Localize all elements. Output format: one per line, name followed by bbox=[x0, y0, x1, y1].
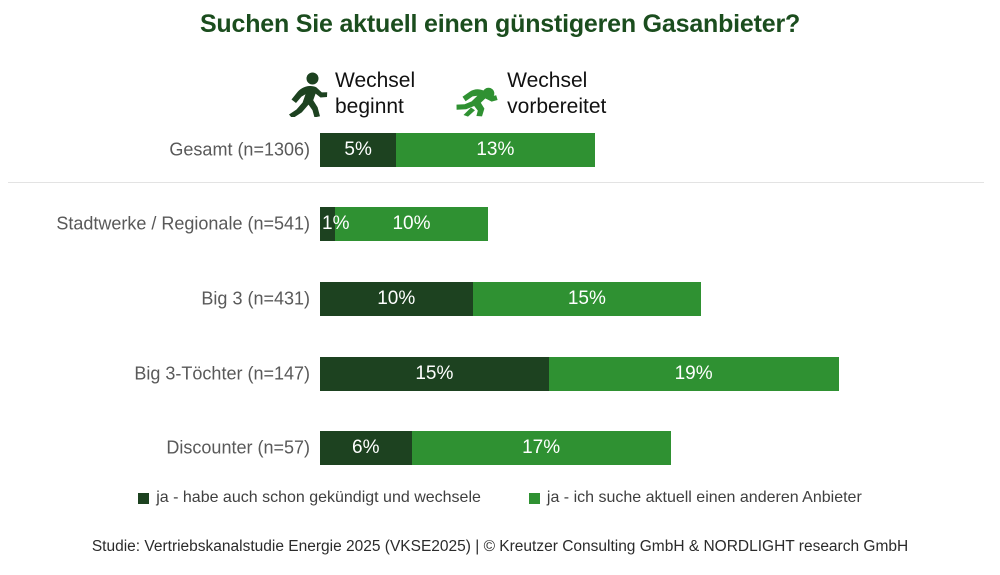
bar-value-label: 6% bbox=[352, 437, 379, 459]
bar-value-label: 5% bbox=[344, 139, 371, 161]
source-footer: Studie: Vertriebskanalstudie Energie 202… bbox=[0, 538, 1000, 556]
table-row: Stadtwerke / Regionale (n=541)1%10% bbox=[0, 207, 1000, 241]
bar-segment-dark: 1% bbox=[320, 207, 335, 241]
table-row: Big 3 (n=431)10%15% bbox=[0, 282, 1000, 316]
table-row: Big 3-Töchter (n=147)15%19% bbox=[0, 357, 1000, 391]
bar-segment-light: 17% bbox=[412, 431, 671, 465]
row-label: Big 3-Töchter (n=147) bbox=[134, 364, 310, 385]
row-label: Stadtwerke / Regionale (n=541) bbox=[56, 214, 310, 235]
legend-label-0: ja - habe auch schon gekündigt und wechs… bbox=[156, 489, 481, 507]
bar-value-label: 15% bbox=[415, 363, 453, 385]
row-label: Gesamt (n=1306) bbox=[169, 140, 310, 161]
bar-value-label: 19% bbox=[675, 363, 713, 385]
chart-legend: ja - habe auch schon gekündigt und wechs… bbox=[0, 489, 1000, 507]
bar-segment-light: 13% bbox=[396, 133, 594, 167]
bar-segment-dark: 15% bbox=[320, 357, 549, 391]
bar-value-label: 10% bbox=[377, 288, 415, 310]
bar-segment-light: 10% bbox=[335, 207, 488, 241]
stacked-bar: 6%17% bbox=[320, 431, 671, 465]
stacked-bar: 15%19% bbox=[320, 357, 839, 391]
bar-segment-dark: 6% bbox=[320, 431, 412, 465]
legend-label-1: ja - ich suche aktuell einen anderen Anb… bbox=[547, 489, 862, 507]
table-row: Gesamt (n=1306)5%13% bbox=[0, 133, 1000, 167]
bar-value-label: 10% bbox=[392, 213, 430, 235]
legend-swatch-icon-dark bbox=[138, 493, 149, 504]
bar-segment-dark: 5% bbox=[320, 133, 396, 167]
bar-segment-light: 19% bbox=[549, 357, 839, 391]
stacked-bar: 10%15% bbox=[320, 282, 701, 316]
stacked-bar: 1%10% bbox=[320, 207, 488, 241]
bar-value-label: 17% bbox=[522, 437, 560, 459]
bar-value-label: 15% bbox=[568, 288, 606, 310]
row-label: Discounter (n=57) bbox=[166, 438, 310, 459]
legend-item-0: ja - habe auch schon gekündigt und wechs… bbox=[138, 489, 481, 507]
chart-root: Suchen Sie aktuell einen günstigeren Gas… bbox=[0, 0, 1000, 575]
stacked-bar: 5%13% bbox=[320, 133, 595, 167]
row-label: Big 3 (n=431) bbox=[201, 289, 310, 310]
bar-value-label: 1% bbox=[322, 213, 349, 235]
bar-segment-light: 15% bbox=[473, 282, 702, 316]
legend-item-1: ja - ich suche aktuell einen anderen Anb… bbox=[529, 489, 862, 507]
legend-swatch-icon-light bbox=[529, 493, 540, 504]
table-row: Discounter (n=57)6%17% bbox=[0, 431, 1000, 465]
bar-value-label: 13% bbox=[476, 139, 514, 161]
bar-segment-dark: 10% bbox=[320, 282, 473, 316]
